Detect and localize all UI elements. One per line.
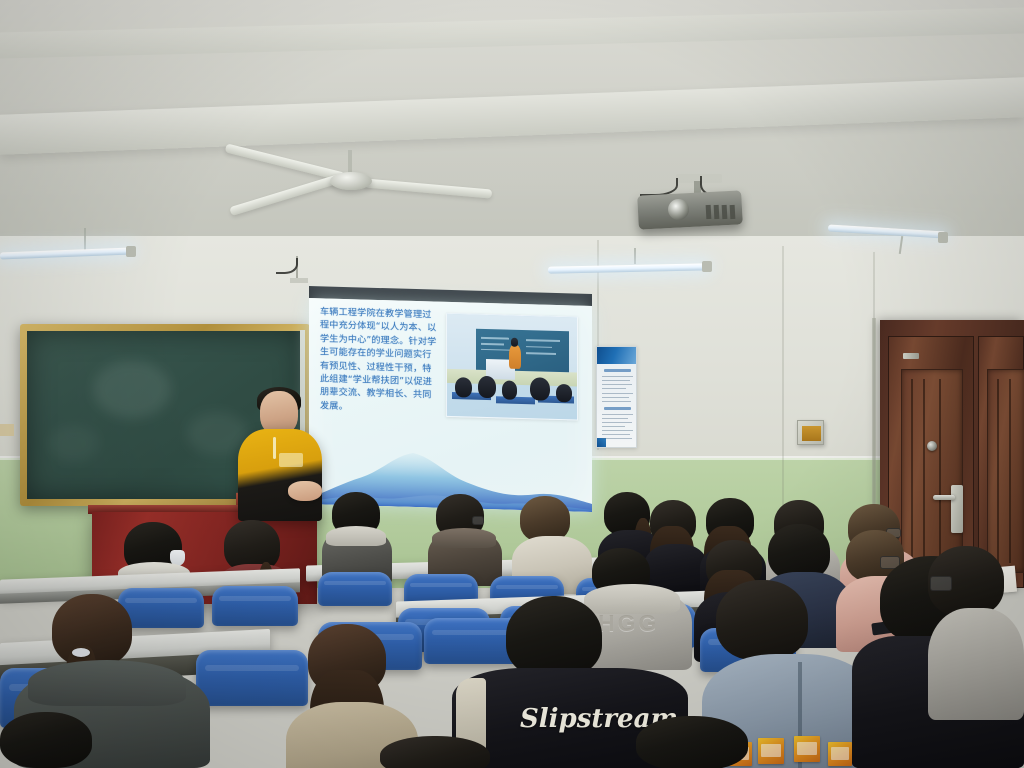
presenter-hands (288, 481, 322, 501)
student-torso (928, 608, 1024, 720)
student-head (506, 596, 602, 678)
slide-embedded-photo (446, 313, 578, 421)
presenter-hoodie (238, 429, 322, 521)
door-lock-plate[interactable] (951, 485, 963, 533)
jacket-patch (758, 738, 784, 764)
glasses (472, 516, 484, 525)
poster-corner (597, 438, 606, 447)
poster-subtitle (604, 369, 631, 372)
student-head (716, 580, 808, 660)
hood (432, 528, 496, 548)
presenter (232, 385, 324, 520)
chair[interactable] (318, 572, 392, 606)
jacket-patch (794, 736, 820, 762)
glasses (930, 576, 952, 591)
jacket-patch (828, 742, 852, 766)
wall-junction-box[interactable] (797, 420, 824, 445)
screen-surface: 车辆工程学院在教学管理过程中充分体现“以人为本、以学生为中心”的理念。针对学生可… (309, 298, 592, 512)
light-end-cap (702, 261, 712, 272)
hoodie-print-text: HGG (598, 610, 659, 637)
poster-header (597, 347, 636, 364)
projector-vent (722, 205, 728, 219)
door-peephole (927, 441, 937, 451)
projector-vent (730, 205, 736, 219)
slide-body-text: 车辆工程学院在教学管理过程中充分体现“以人为本、以学生为中心”的理念。针对学生可… (320, 306, 440, 417)
projector (637, 190, 743, 229)
student-head (0, 712, 92, 768)
light-end-cap (938, 232, 948, 243)
junction-box-face (802, 426, 821, 441)
classroom-photo: 车辆工程学院在教学管理过程中充分体现“以人为本、以学生为中心”的理念。针对学生可… (0, 0, 1024, 768)
hoodie-logo (279, 453, 303, 467)
student-head (636, 716, 748, 768)
light-end-cap (126, 246, 136, 257)
wall-notice-poster (596, 346, 637, 448)
hoodie-drawstring (273, 437, 276, 459)
hood (28, 660, 186, 706)
door-handle[interactable] (933, 495, 955, 500)
projector-vent (706, 205, 712, 219)
ceiling-fan-hub (330, 172, 372, 190)
chair[interactable] (196, 650, 308, 706)
light-stem (634, 248, 636, 264)
student-head (380, 736, 490, 768)
hair-tie (72, 648, 90, 657)
projector-vent (714, 205, 720, 219)
chair[interactable] (212, 586, 298, 626)
chalk-tray-item (0, 424, 14, 436)
door-label-plate (903, 353, 919, 359)
hood (326, 526, 386, 546)
screen-bracket (290, 278, 308, 283)
projection-screen: 车辆工程学院在教学管理过程中充分体现“以人为本、以学生为中心”的理念。针对学生可… (309, 286, 592, 512)
poster-subtitle (604, 407, 631, 410)
